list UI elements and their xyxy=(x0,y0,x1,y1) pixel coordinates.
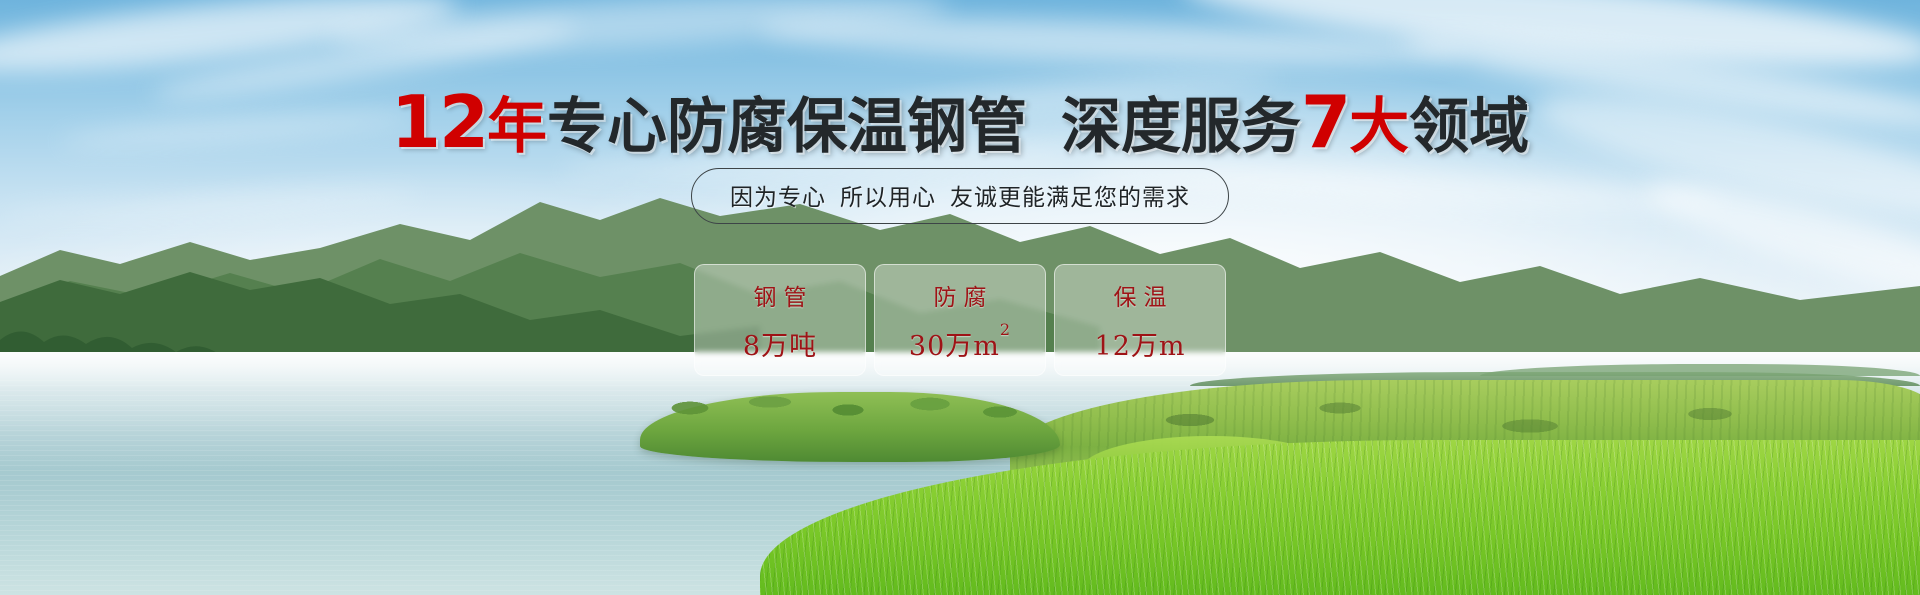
stat-card-value-superscript: 2 xyxy=(1000,320,1011,339)
headline-text-primary: 专心防腐保温钢管 xyxy=(547,92,1027,162)
stat-card-group: 钢管 8万吨 防腐 30万m2 保温 12万m xyxy=(694,264,1226,376)
stat-card-value: 8万吨 xyxy=(743,324,817,363)
stat-card-value: 12万m xyxy=(1095,324,1186,363)
stat-card-label: 防腐 xyxy=(927,278,994,312)
headline-text-tertiary: 领域 xyxy=(1409,92,1529,162)
stat-card-label: 保温 xyxy=(1107,278,1174,312)
stat-card-anticorrosion: 防腐 30万m2 xyxy=(874,264,1046,376)
headline-number-fields: 7 xyxy=(1301,80,1349,164)
stat-card-value-main: 12万m xyxy=(1095,331,1186,362)
stat-card-steel-pipe: 钢管 8万吨 xyxy=(694,264,866,376)
headline-unit-fields: 大 xyxy=(1349,92,1409,162)
headline-number-years: 12 xyxy=(391,80,487,164)
hero-banner: 12年专心防腐保温钢管深度服务7大领域 因为专心所以用心友诚更能满足您的需求 钢… xyxy=(0,0,1920,595)
subtitle-part-2: 所以用心 xyxy=(840,185,936,211)
headline-text-secondary: 深度服务 xyxy=(1061,92,1301,162)
stat-card-value: 30万m2 xyxy=(909,324,1011,363)
stat-card-label: 钢管 xyxy=(747,278,814,312)
stat-card-value-main: 8万吨 xyxy=(743,331,817,362)
subtitle-part-1: 因为专心 xyxy=(730,185,826,211)
headline: 12年专心防腐保温钢管深度服务7大领域 xyxy=(0,86,1920,158)
subtitle-pill: 因为专心所以用心友诚更能满足您的需求 xyxy=(691,168,1229,224)
stat-card-insulation: 保温 12万m xyxy=(1054,264,1226,376)
headline-unit-years: 年 xyxy=(487,92,547,162)
subtitle-part-3: 友诚更能满足您的需求 xyxy=(950,185,1190,211)
stat-card-value-main: 30万m xyxy=(909,331,1000,362)
grass-island-tufts xyxy=(650,390,1050,430)
